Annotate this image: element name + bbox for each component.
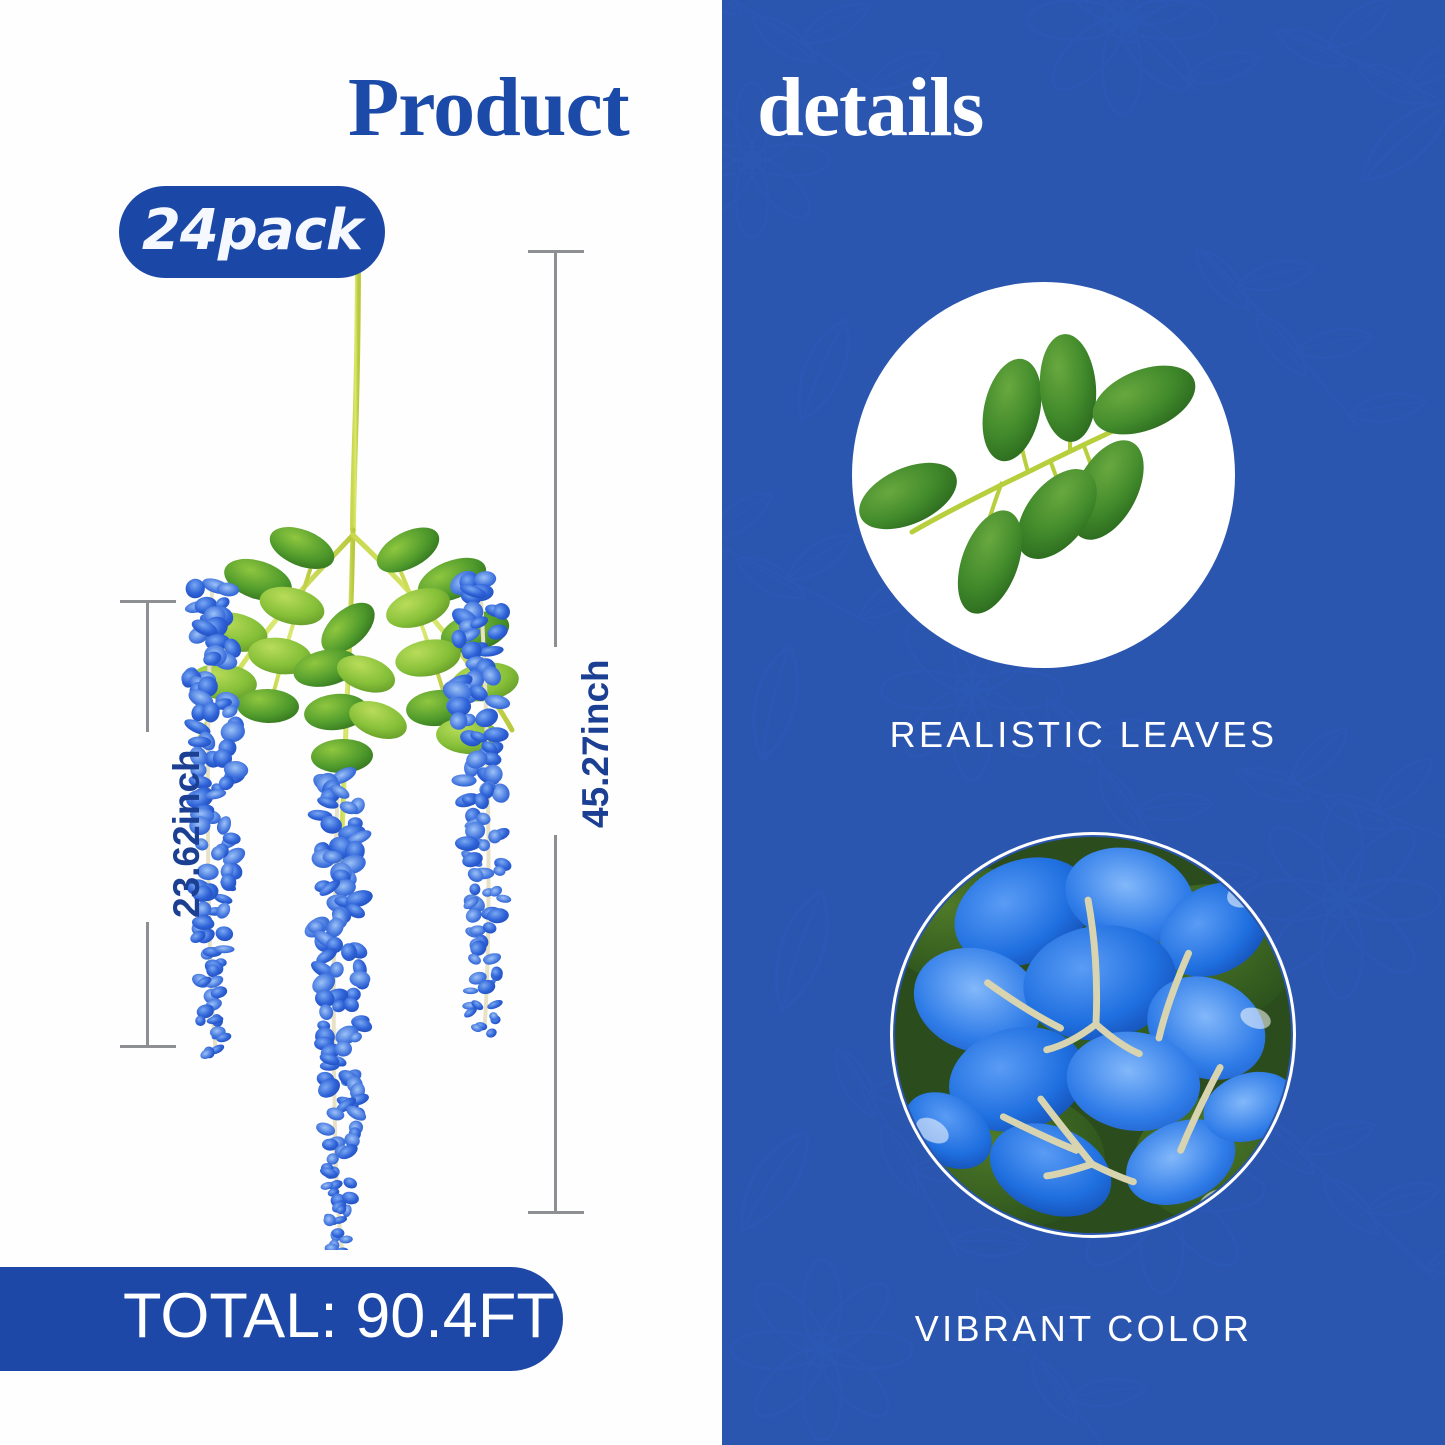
dimension-overall-length: 45.27inch [528, 250, 584, 1214]
vibrant-color-photo [890, 832, 1296, 1238]
total-length-banner: TOTAL: 90.4FT [0, 1267, 563, 1371]
realistic-leaves-photo [852, 282, 1235, 668]
feature-label-vibrant-color: VIBRANT COLOR [722, 1308, 1445, 1350]
product-details-infographic: 24pack 23.62inch 45.27inch TOTAL: 90.4FT [0, 0, 1445, 1445]
dimension-label-strand-length: 23.62inch [166, 749, 208, 918]
dimension-cap-bottom [120, 1045, 176, 1048]
pack-count-label: 24pack [142, 198, 362, 263]
dimension-strand-length: 23.62inch [120, 600, 176, 1048]
page-title-product: Product [348, 58, 629, 158]
right-panel: REALISTIC LEAVES [722, 0, 1445, 1445]
dimension-shaft-lower [146, 922, 149, 1047]
product-photo [150, 250, 570, 1250]
dimension-shaft-lower [554, 835, 557, 1213]
pack-count-badge: 24pack [119, 186, 385, 278]
dimension-shaft-upper [554, 252, 557, 647]
page-title-details: details [757, 58, 983, 158]
page-title: Product details [0, 58, 1445, 168]
total-length-label: TOTAL: 90.4FT [0, 1280, 555, 1352]
dimension-label-overall-length: 45.27inch [575, 659, 617, 828]
feature-label-realistic-leaves: REALISTIC LEAVES [722, 714, 1445, 756]
dimension-shaft-upper [146, 602, 149, 732]
dimension-cap-bottom [528, 1211, 584, 1214]
left-panel: 24pack 23.62inch 45.27inch TOTAL: 90.4FT [0, 0, 722, 1445]
